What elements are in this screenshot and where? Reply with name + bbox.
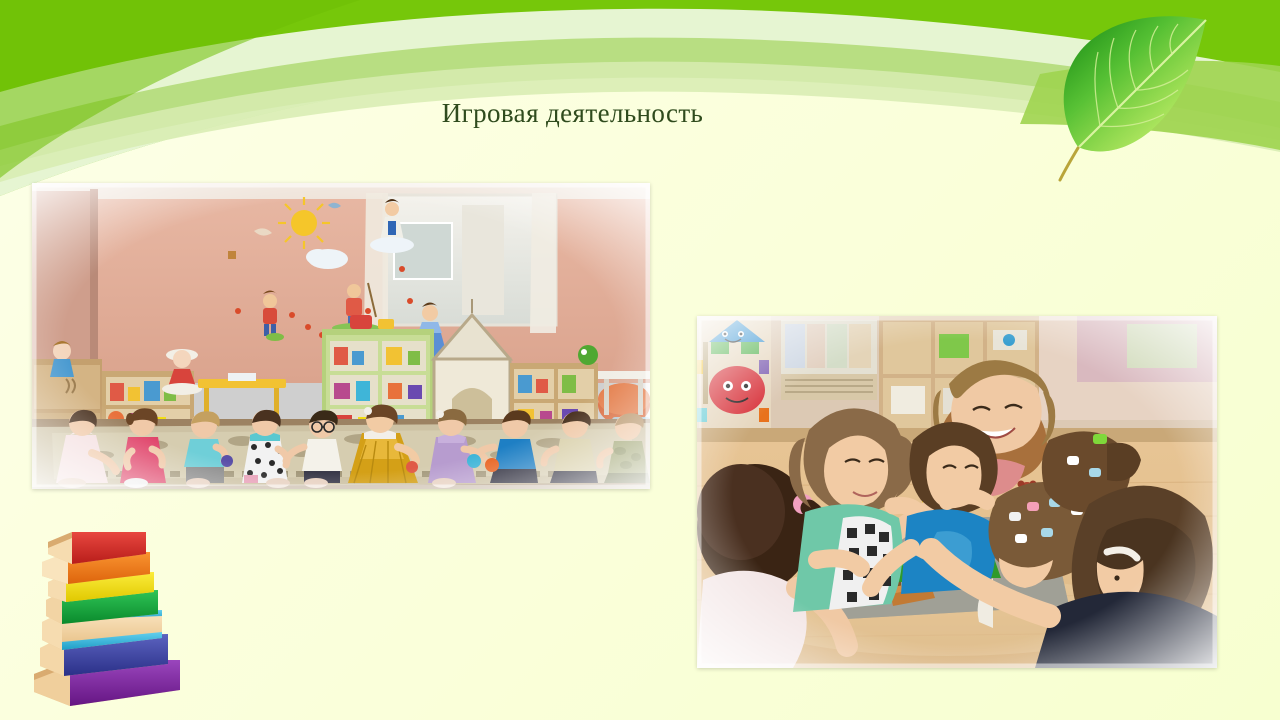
leaf-icon xyxy=(1038,2,1238,192)
book-stack-icon xyxy=(28,524,188,714)
leaf-blade-sheen xyxy=(1064,16,1206,151)
photo2-content xyxy=(697,316,1217,668)
page-title: Игровая деятельность xyxy=(0,98,1145,129)
photo1-content xyxy=(32,183,650,489)
classroom-circle-game-photo[interactable] xyxy=(32,183,650,489)
presentation-slide: Игровая деятельность xyxy=(0,0,1280,720)
table-figurines-photo[interactable] xyxy=(697,316,1217,668)
leaf-stem xyxy=(1060,148,1078,180)
